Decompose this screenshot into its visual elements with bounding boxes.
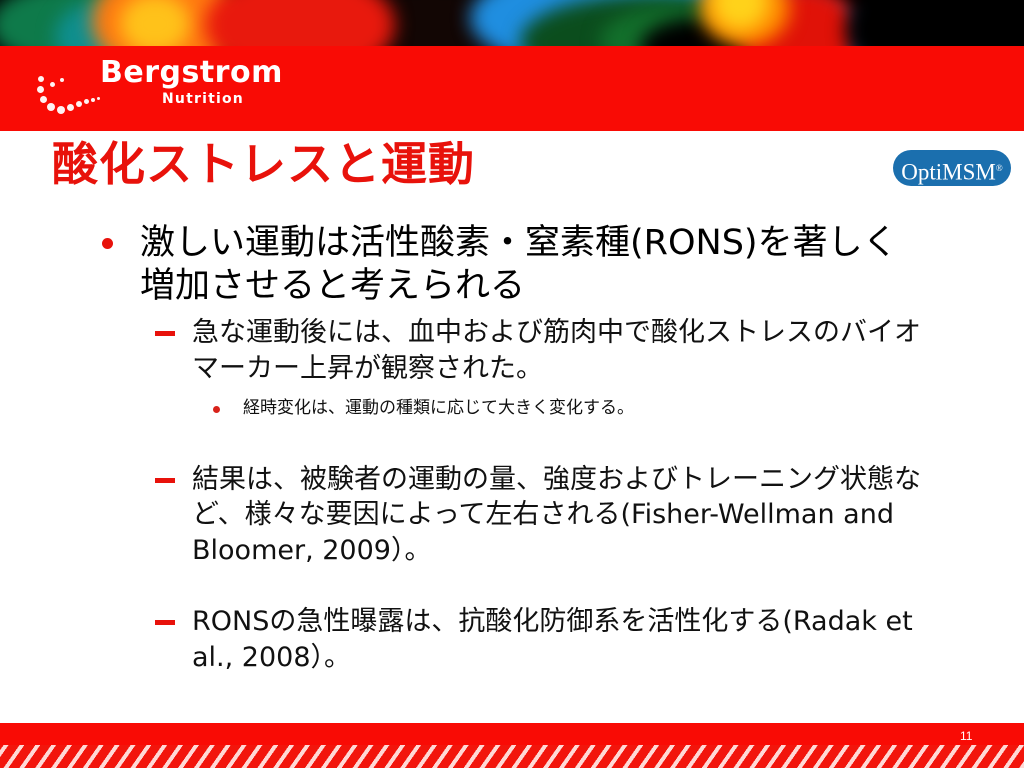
bullet-level2-text: RONSの急性曝露は、抗酸化防御系を活性化する(Radak et al., 20… bbox=[192, 606, 913, 673]
bullet-level3-item: 経時変化は、運動の種類に応じて大きく変化する。 bbox=[205, 397, 945, 420]
banner-shape-yellow-left bbox=[120, 0, 190, 46]
spacer bbox=[0, 420, 1024, 454]
slide-title: 酸化ストレスと運動 bbox=[52, 140, 475, 188]
presentation-slide: Bergstrom Nutrition 酸化ストレスと運動 OptiMSM® 激… bbox=[0, 0, 1024, 768]
bullet-dash-icon bbox=[155, 331, 175, 336]
optimsm-product-logo: OptiMSM® bbox=[893, 150, 1011, 186]
optimsm-label: OptiMSM bbox=[901, 160, 996, 185]
bullet-level1-text: 激しい運動は活性酸素・窒素種(RONS)を著しく増加させると考えられる bbox=[140, 223, 898, 306]
spacer bbox=[0, 568, 1024, 596]
slide-body: 激しい運動は活性酸素・窒素種(RONS)を著しく増加させると考えられる 急な運動… bbox=[0, 222, 1024, 676]
bullet-level2-item: RONSの急性曝露は、抗酸化防御系を活性化する(Radak et al., 20… bbox=[150, 604, 940, 675]
company-logo: Bergstrom Nutrition bbox=[36, 56, 276, 118]
bullet-level2-text: 結果は、被験者の運動の量、強度およびトレーニング状態など、様々な要因によって左右… bbox=[192, 464, 921, 566]
logo-wordmark: Bergstrom bbox=[100, 58, 283, 88]
bullet-level2-item: 急な運動後には、血中および筋肉中で酸化ストレスのバイオマーカー上昇が観察された。 bbox=[150, 315, 940, 386]
bullet-dash-icon bbox=[155, 620, 175, 625]
header-band: Bergstrom Nutrition bbox=[0, 46, 1024, 131]
registered-trademark-icon: ® bbox=[996, 163, 1003, 173]
footer-band bbox=[0, 723, 1024, 747]
banner-shape-red-left bbox=[205, 0, 395, 46]
bullet-dash-icon bbox=[155, 478, 175, 483]
bullet-level2-text: 急な運動後には、血中および筋肉中で酸化ストレスのバイオマーカー上昇が観察された。 bbox=[192, 317, 921, 384]
page-number: 11 bbox=[960, 729, 990, 743]
decorative-banner-image bbox=[0, 0, 1024, 46]
banner-shape-dark-far-right bbox=[845, 0, 1024, 46]
bullet-dot-icon bbox=[102, 238, 113, 249]
logo-tagline: Nutrition bbox=[162, 92, 244, 106]
bullet-level2-item: 結果は、被験者の運動の量、強度およびトレーニング状態など、様々な要因によって左右… bbox=[150, 462, 940, 569]
bullet-small-dot-icon bbox=[213, 406, 220, 413]
bullet-level1-item: 激しい運動は活性酸素・窒素種(RONS)を著しく増加させると考えられる bbox=[92, 222, 922, 307]
footer-stripe-pattern bbox=[0, 745, 1024, 768]
bullet-level3-text: 経時変化は、運動の種類に応じて大きく変化する。 bbox=[243, 398, 634, 418]
